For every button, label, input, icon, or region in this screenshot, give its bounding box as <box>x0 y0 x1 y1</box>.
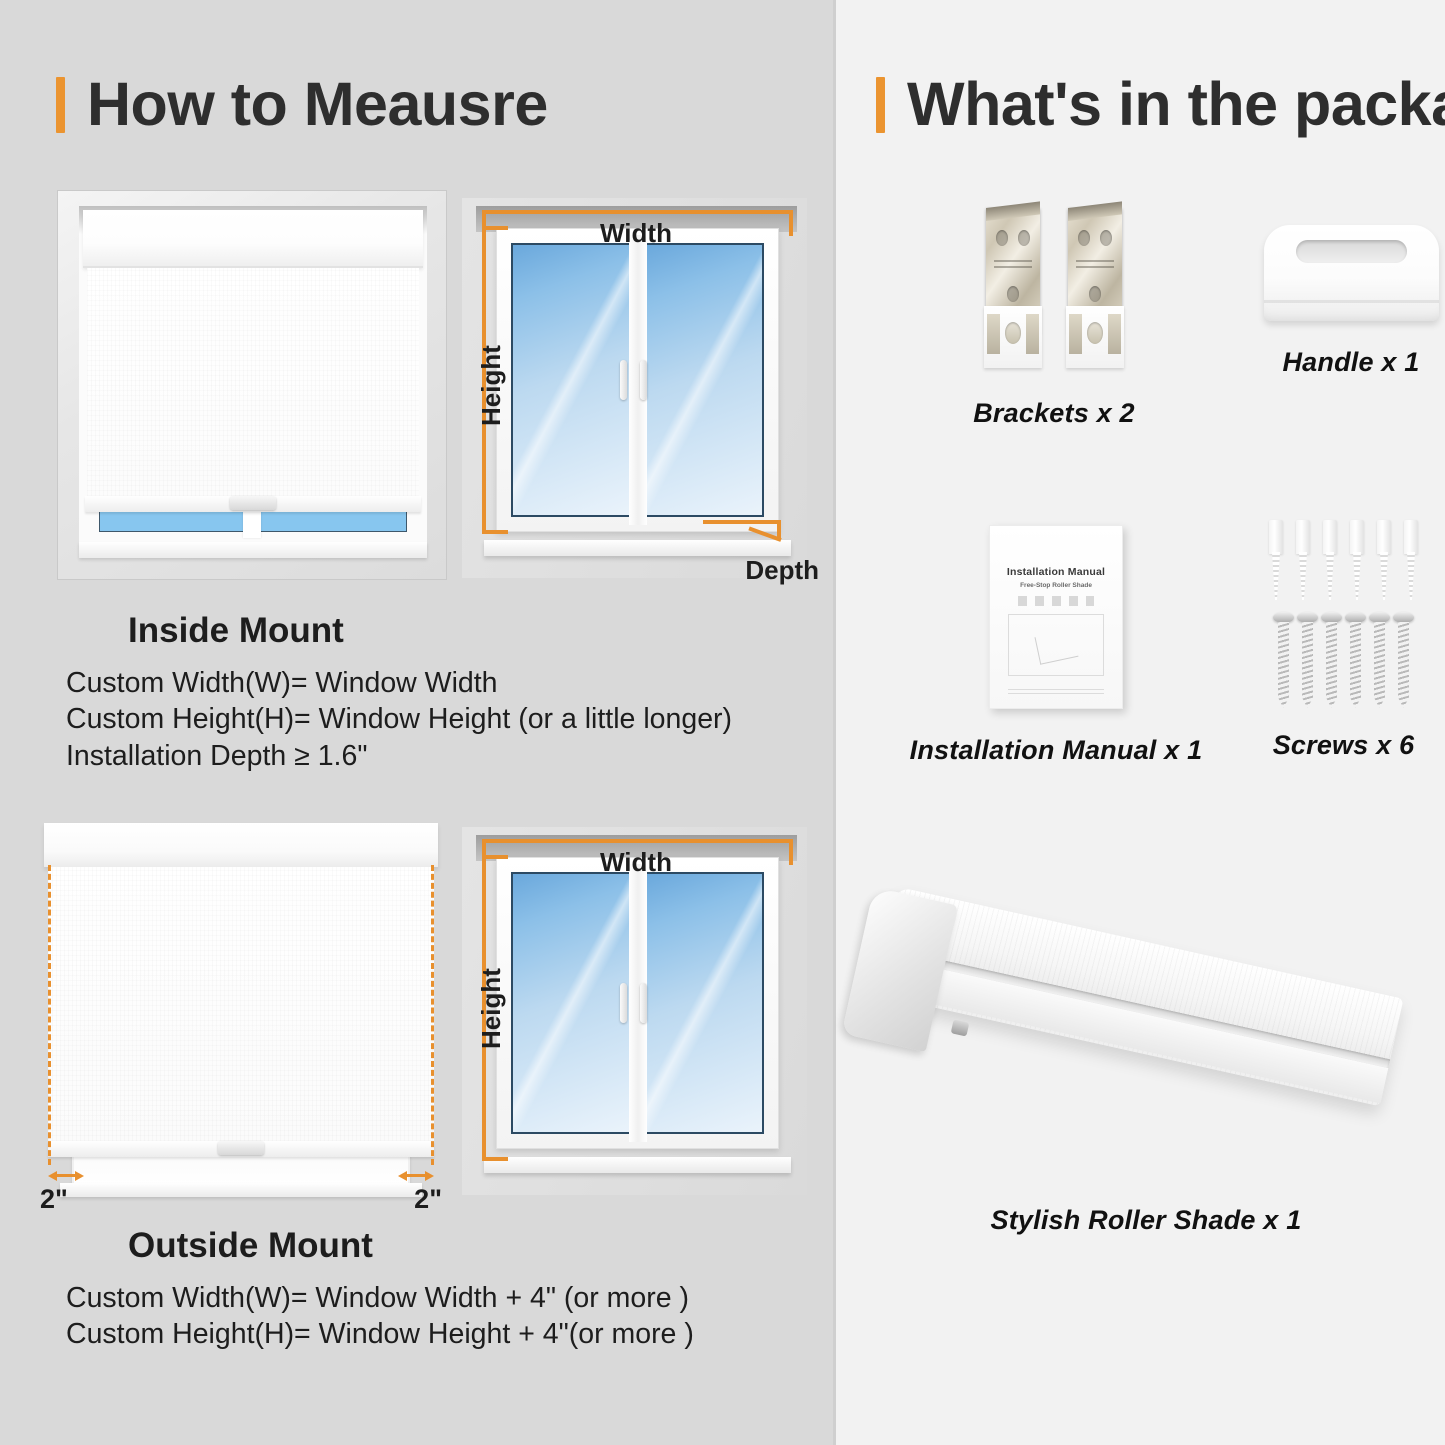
inside-mount-spec-line: Installation Depth ≥ 1.6" <box>66 738 833 774</box>
wall-anchor-icon <box>1267 520 1285 600</box>
width-dimension-line <box>482 839 793 843</box>
height-tick-top <box>482 855 508 859</box>
window-measure-diagram-outside: Width Height <box>462 827 807 1195</box>
outside-mount-diagram-row: 2" 2" <box>0 805 833 1200</box>
height-tick-bottom <box>482 1157 508 1161</box>
wall-anchor-icon <box>1321 520 1339 600</box>
overhang-arrow-right <box>398 1169 434 1179</box>
window-frame <box>496 228 779 532</box>
outside-mount-illustration: 2" 2" <box>36 813 446 1203</box>
overhang-guide-left <box>48 865 51 1165</box>
bracket-unit <box>1066 200 1124 368</box>
package-item-roller-shade: Stylish Roller Shade x 1 <box>866 845 1426 1236</box>
overhang-label-left: 2" <box>40 1184 68 1215</box>
outside-mount-section: 2" 2" <box>0 805 833 1353</box>
inside-mount-illustration <box>57 190 447 580</box>
glass-pane-left <box>511 243 632 517</box>
screw-icon <box>1348 612 1363 708</box>
window-measure-diagram-inside: Width Height Depth <box>462 198 807 578</box>
screw-icon <box>1396 612 1411 708</box>
inside-mount-spec-line: Custom Width(W)= Window Width <box>66 665 833 701</box>
how-to-measure-heading: How to Meausre <box>56 74 548 135</box>
handle-icon <box>1264 225 1439 321</box>
handle-caption: Handle x 1 <box>1226 347 1445 378</box>
height-label: Height <box>476 968 507 1049</box>
product-infographic: How to Meausre <box>0 0 1445 1445</box>
inside-mount-title: Inside Mount <box>128 611 833 651</box>
outside-mount-spec-line: Custom Width(W)= Window Width + 4" (or m… <box>66 1280 833 1316</box>
window-mullion <box>629 235 647 525</box>
screw-icon <box>1300 612 1315 708</box>
window-handle-left-icon <box>620 360 627 400</box>
depth-dimension-line <box>703 520 781 524</box>
manual-cover-title: Installation Manual <box>990 566 1122 578</box>
roller-shade-end-cap <box>842 887 958 1052</box>
inside-mount-spec-line: Custom Height(H)= Window Height (or a li… <box>66 701 833 737</box>
manual-cover-subtitle: Free-Stop Roller Shade <box>990 582 1122 589</box>
shade-headrail <box>44 823 438 867</box>
window-handle-right-icon <box>640 983 647 1023</box>
outside-mount-title: Outside Mount <box>128 1226 833 1266</box>
wall-anchor-icon-group <box>1211 520 1445 604</box>
accent-bar-icon <box>56 77 65 133</box>
handle-lip <box>1264 300 1439 303</box>
wall-anchor-icon <box>1348 520 1366 600</box>
shade-fabric <box>87 268 419 496</box>
bracket-icon <box>924 200 1184 370</box>
manual-cover-footer-lines <box>1008 686 1104 694</box>
width-tick-right <box>789 210 793 236</box>
page-title: How to Meausre <box>87 74 548 135</box>
window-frame <box>496 857 779 1149</box>
screw-icon <box>1372 612 1387 708</box>
window-handle-right-icon <box>640 360 647 400</box>
outside-mount-spec-list: Custom Width(W)= Window Width + 4" (or m… <box>66 1280 833 1353</box>
roller-shade-caption: Stylish Roller Shade x 1 <box>866 1205 1426 1236</box>
overhang-guide-right <box>431 865 434 1165</box>
window-sill <box>60 1183 422 1197</box>
shade-pull-handle-icon <box>230 496 276 510</box>
screw-icon <box>1276 612 1291 708</box>
inside-mount-diagram-row: Width Height Depth <box>0 190 833 585</box>
roller-shade-icon <box>866 845 1411 1195</box>
window-sill <box>484 1157 791 1173</box>
package-item-manual: Installation Manual Free-Stop Roller Sha… <box>896 525 1216 766</box>
width-dimension-line <box>482 210 793 214</box>
accent-bar-icon <box>876 77 885 133</box>
glass-pane-right <box>643 243 764 517</box>
shade-bottom-rail <box>85 496 421 512</box>
glass-pane-right <box>643 872 764 1134</box>
wall-anchor-icon <box>1294 520 1312 600</box>
bracket-plastic-base <box>984 306 1042 368</box>
bracket-plastic-base <box>1066 306 1124 368</box>
wall-anchor-icon <box>1375 520 1393 600</box>
roller-shade-end-pin <box>951 1019 970 1036</box>
window-sill <box>79 542 427 558</box>
package-heading: What's in the package <box>876 74 1445 135</box>
package-title: What's in the package <box>907 74 1445 135</box>
width-label: Width <box>600 218 672 249</box>
glass-pane-left <box>511 872 632 1134</box>
height-tick-top <box>482 226 508 230</box>
screw-icon <box>1324 612 1339 708</box>
height-tick-bottom <box>482 530 508 534</box>
handle-slot <box>1296 240 1407 263</box>
inside-mount-section: Width Height Depth Inside Mount Custom W… <box>0 190 833 774</box>
shade-fabric <box>48 867 434 1141</box>
shade-bottom-rail <box>48 1141 434 1157</box>
package-item-screws: Screws x 6 <box>1211 520 1445 761</box>
manual-icon: Installation Manual Free-Stop Roller Sha… <box>989 525 1123 709</box>
brackets-caption: Brackets x 2 <box>924 398 1184 429</box>
overhang-label-right: 2" <box>414 1184 442 1215</box>
width-label: Width <box>600 847 672 878</box>
how-to-measure-panel: How to Meausre <box>0 0 833 1445</box>
inside-mount-spec-list: Custom Width(W)= Window Width Custom Hei… <box>66 665 833 774</box>
window-sill <box>484 540 791 556</box>
window-handle-left-icon <box>620 983 627 1023</box>
bracket-unit <box>984 200 1042 368</box>
roller-shade-lower-face <box>898 961 1388 1103</box>
package-item-handle: Handle x 1 <box>1226 215 1445 378</box>
package-item-brackets: Brackets x 2 <box>924 200 1184 429</box>
screws-caption: Screws x 6 <box>1211 730 1445 761</box>
manual-caption: Installation Manual x 1 <box>896 735 1216 766</box>
manual-cover-rule <box>1018 596 1094 606</box>
screw-icon-group <box>1211 612 1445 712</box>
outside-mount-spec-line: Custom Height(H)= Window Height + 4"(or … <box>66 1316 833 1352</box>
height-label: Height <box>476 345 507 426</box>
shade-headrail <box>83 210 423 268</box>
depth-label: Depth <box>745 555 819 586</box>
window-mullion <box>629 864 647 1142</box>
shade-pull-handle-icon <box>218 1141 264 1155</box>
wall-anchor-icon <box>1402 520 1420 600</box>
package-contents-panel: What's in the package <box>836 0 1445 1445</box>
manual-cover-figure <box>1008 614 1104 676</box>
width-tick-right <box>789 839 793 865</box>
overhang-arrow-left <box>48 1169 84 1179</box>
